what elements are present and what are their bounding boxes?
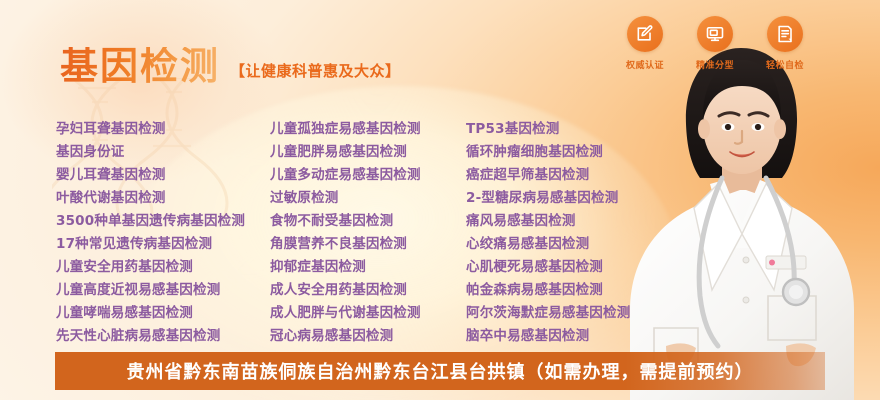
list-item[interactable]: 食物不耐受基因检测 — [270, 210, 466, 233]
page-title-group: 基因检测 【让健康科普惠及大众】 — [60, 47, 401, 85]
feature-badge-authority[interactable]: 权威认证 — [618, 16, 672, 71]
list-item[interactable]: 过敏原检测 — [270, 187, 466, 210]
list-item[interactable]: 婴儿耳聋基因检测 — [56, 164, 270, 187]
list-item[interactable]: 抑郁症基因检测 — [270, 256, 466, 279]
location-banner-text: 贵州省黔东南苗族侗族自治州黔东台江县台拱镇（如需办理，需提前预约） — [127, 358, 754, 384]
feature-badge-typing[interactable]: 精准分型 — [688, 16, 742, 71]
list-item[interactable]: 角膜营养不良基因检测 — [270, 233, 466, 256]
list-item[interactable]: 冠心病易感基因检测 — [270, 325, 466, 348]
document-report-icon — [767, 16, 803, 52]
list-item[interactable]: 先天性心脏病易感基因检测 — [56, 325, 270, 348]
list-item[interactable]: 17种常见遗传病基因检测 — [56, 233, 270, 256]
list-item[interactable]: 癌症超早筛基因检测 — [466, 164, 676, 187]
feature-badge-label: 精准分型 — [696, 58, 734, 71]
list-item[interactable]: 循环肿瘤细胞基因检测 — [466, 141, 676, 164]
list-item[interactable]: 儿童肥胖易感基因检测 — [270, 141, 466, 164]
list-item[interactable]: 脑卒中易感基因检测 — [466, 325, 676, 348]
feature-badge-row: 权威认证 精准分型 轻松自检 — [618, 16, 812, 71]
list-item[interactable]: 阿尔茨海默症易感基因检测 — [466, 302, 676, 325]
feature-badge-label: 轻松自检 — [766, 58, 804, 71]
service-list: 孕妇耳聋基因检测 基因身份证 婴儿耳聋基因检测 叶酸代谢基因检测 3500种单基… — [56, 118, 676, 348]
list-item[interactable]: 孕妇耳聋基因检测 — [56, 118, 270, 141]
list-item[interactable]: 2-型糖尿病易感基因检测 — [466, 187, 676, 210]
poster-canvas: 基因检测 【让健康科普惠及大众】 权威认证 精准分型 — [0, 0, 880, 400]
list-item[interactable]: 心肌梗死易感基因检测 — [466, 256, 676, 279]
location-banner: 贵州省黔东南苗族侗族自治州黔东台江县台拱镇（如需办理，需提前预约） — [55, 352, 825, 390]
list-item[interactable]: 3500种单基因遗传病基因检测 — [56, 210, 270, 233]
list-item[interactable]: 心绞痛易感基因检测 — [466, 233, 676, 256]
feature-badge-selfcheck[interactable]: 轻松自检 — [758, 16, 812, 71]
monitor-screen-icon — [697, 16, 733, 52]
list-item[interactable]: 儿童多动症易感基因检测 — [270, 164, 466, 187]
service-column-2: 儿童孤独症易感基因检测 儿童肥胖易感基因检测 儿童多动症易感基因检测 过敏原检测… — [270, 118, 466, 348]
list-item[interactable]: 儿童孤独症易感基因检测 — [270, 118, 466, 141]
list-item[interactable]: 成人肥胖与代谢基因检测 — [270, 302, 466, 325]
feature-badge-label: 权威认证 — [626, 58, 664, 71]
list-item[interactable]: 儿童安全用药基因检测 — [56, 256, 270, 279]
list-item[interactable]: TP53基因检测 — [466, 118, 676, 141]
page-subtitle: 【让健康科普惠及大众】 — [230, 60, 401, 85]
list-item[interactable]: 儿童哮喘易感基因检测 — [56, 302, 270, 325]
pencil-edit-icon — [627, 16, 663, 52]
list-item[interactable]: 帕金森病易感基因检测 — [466, 279, 676, 302]
service-column-1: 孕妇耳聋基因检测 基因身份证 婴儿耳聋基因检测 叶酸代谢基因检测 3500种单基… — [56, 118, 270, 348]
list-item[interactable]: 基因身份证 — [56, 141, 270, 164]
list-item[interactable]: 儿童高度近视易感基因检测 — [56, 279, 270, 302]
list-item[interactable]: 痛风易感基因检测 — [466, 210, 676, 233]
list-item[interactable]: 成人安全用药基因检测 — [270, 279, 466, 302]
service-column-3: TP53基因检测 循环肿瘤细胞基因检测 癌症超早筛基因检测 2-型糖尿病易感基因… — [466, 118, 676, 348]
page-title: 基因检测 — [60, 47, 220, 85]
list-item[interactable]: 叶酸代谢基因检测 — [56, 187, 270, 210]
